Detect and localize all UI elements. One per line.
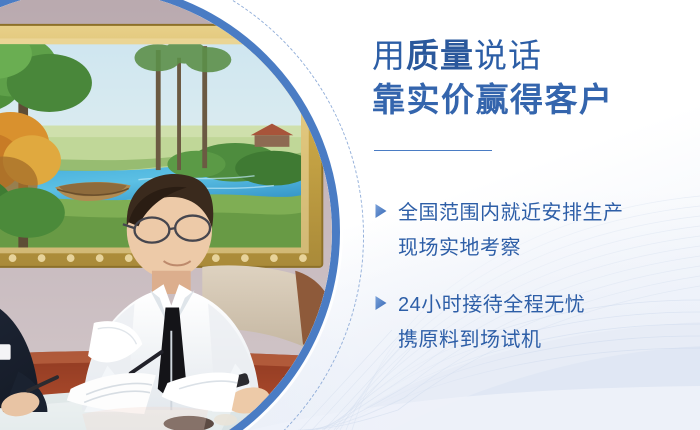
list-item: 全国范围内就近安排生产 现场实地考察 [372,196,700,266]
list-item: 24小时接待全程无忧 携原料到场试机 [372,288,700,358]
headline-line-1: 用质量说话 [372,34,692,78]
feature-sub-text: 携原料到场试机 [398,322,700,358]
headline-emphasis: 质量 [406,37,474,74]
promo-banner: 用质量说话 靠实价赢得客户 [0,0,700,430]
page-title: 用质量说话 靠实价赢得客户 [372,34,692,122]
headline-line-2: 靠实价赢得客户 [372,78,692,122]
title-divider [374,150,492,151]
feature-main-text: 24小时接待全程无忧 [398,288,585,322]
feature-main-text: 全国范围内就近安排生产 [398,196,624,230]
feature-sub-text: 现场实地考察 [398,230,700,266]
banner-content: 用质量说话 靠实价赢得客户 [372,0,700,430]
feature-list: 全国范围内就近安排生产 现场实地考察 [372,196,700,380]
arrow-right-icon [372,294,398,312]
photo-circle-frame [0,0,340,430]
arrow-right-icon [372,202,398,220]
meeting-photo [0,0,332,430]
headline-prefix: 用 [372,37,406,74]
headline-suffix: 说话 [474,37,542,74]
